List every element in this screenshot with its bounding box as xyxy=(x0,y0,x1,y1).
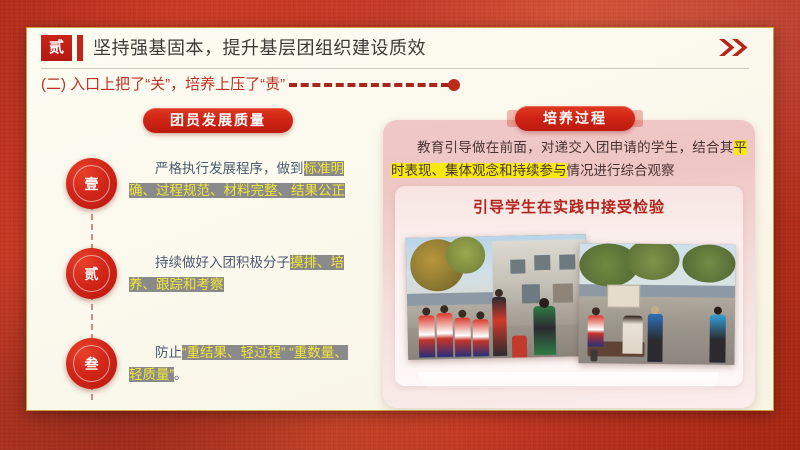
right-paragraph-part2: 情况进行综合观察 xyxy=(567,163,675,178)
item-marker-circle: 贰 xyxy=(66,248,117,299)
photo-student xyxy=(588,315,604,346)
right-badge: 培养过程 xyxy=(515,106,635,131)
right-inner-title: 引导学生在实践中接受检验 xyxy=(383,196,755,217)
photo-signboard xyxy=(607,284,640,308)
item-text: 防止“重结果、轻过程” “重数量、轻质量”。 xyxy=(129,342,361,386)
photo-window xyxy=(511,260,526,274)
photo-group xyxy=(393,226,749,394)
photo-student xyxy=(418,315,435,357)
item-marker-label: 壹 xyxy=(66,174,117,194)
photo-window xyxy=(534,254,551,270)
page-title: 坚持强基固本，提升基层团组织建设质效 xyxy=(93,36,426,61)
photo-student xyxy=(436,313,453,357)
item-text: 严格执行发展程序，做到标准明确、过程规范、材料完整、结果公正 xyxy=(129,158,361,202)
item-text-tail: 。 xyxy=(174,367,188,382)
double-chevron-right-icon xyxy=(717,36,751,60)
subtitle-dashed-line xyxy=(289,83,449,87)
photo-elder xyxy=(533,306,556,355)
photo-tree xyxy=(445,236,485,273)
photo-student xyxy=(454,317,471,356)
item-marker-circle: 壹 xyxy=(66,158,117,209)
photo-students-park xyxy=(578,243,735,365)
right-paragraph: 教育引导做在前面，对递交入团申请的学生，结合其平时表现、集体观念和持续参与情况进… xyxy=(391,136,747,182)
item-text-plain: 严格执行发展程序，做到 xyxy=(155,161,304,176)
subtitle-text: (二) 入口上把了“关”，培养上压了“责” xyxy=(41,73,285,97)
header-divider xyxy=(41,68,749,69)
item-marker-circle: 叁 xyxy=(66,338,117,389)
slide-header: 贰 坚持强基固本，提升基层团组织建设质效 xyxy=(27,28,773,68)
photo-bench-leg xyxy=(591,349,597,361)
item-marker-label: 贰 xyxy=(66,264,117,284)
left-badge: 团员发展质量 xyxy=(143,108,293,133)
photo-student xyxy=(472,319,489,356)
subtitle-end-dot xyxy=(448,79,460,91)
presentation-slide: 贰 坚持强基固本，提升基层团组织建设质效 (二) 入口上把了“关”，培养上压了“… xyxy=(0,0,800,450)
subtitle-row: (二) 入口上把了“关”，培养上压了“责” xyxy=(41,73,460,97)
photo-window xyxy=(559,254,576,270)
photo-student xyxy=(622,316,643,355)
photo-volunteer xyxy=(709,314,725,362)
item-marker-label: 叁 xyxy=(66,354,117,374)
item-text-plain: 防止 xyxy=(155,345,182,360)
section-number-bar xyxy=(77,35,83,61)
photo-students-street xyxy=(406,234,589,360)
right-paragraph-part1: 教育引导做在前面，对递交入团申请的学生，结合其 xyxy=(417,140,734,155)
content-panel: 贰 坚持强基固本，提升基层团组织建设质效 (二) 入口上把了“关”，培养上压了“… xyxy=(26,27,774,411)
item-text: 持续做好入团积极分子摸排、培养、跟踪和考察 xyxy=(129,252,361,296)
photo-volunteer xyxy=(647,314,663,362)
section-number-badge: 贰 xyxy=(41,35,72,61)
photo-student xyxy=(512,335,527,357)
right-column: 培养过程 教育引导做在前面，对递交入团申请的学生，结合其平时表现、集体观念和持续… xyxy=(383,106,755,408)
left-column: 团员发展质量 壹 严格执行发展程序，做到标准明确、过程规范、材料完整、结果公正 … xyxy=(41,106,377,402)
photo-volunteer xyxy=(492,297,508,356)
item-text-plain: 持续做好入团积极分子 xyxy=(155,255,290,270)
